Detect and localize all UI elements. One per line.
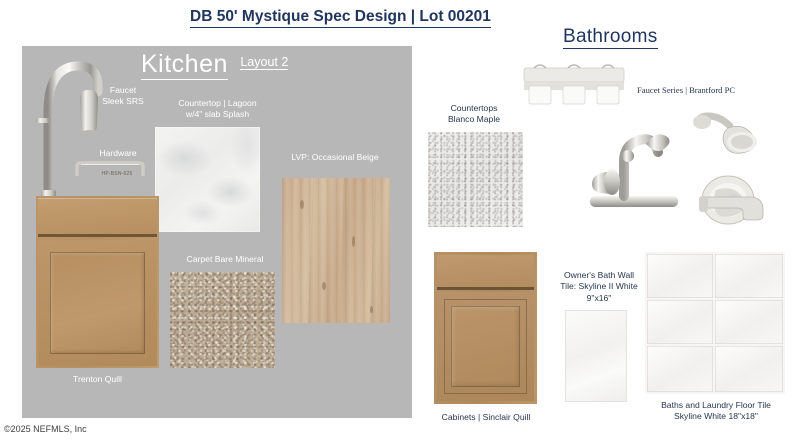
floor-tile-swatch-grid [645, 252, 785, 394]
main-title-text: DB 50' Mystique Spec Design | Lot 00201 [190, 8, 491, 28]
design-spec-board: DB 50' Mystique Spec Design | Lot 00201 … [0, 0, 800, 447]
bathrooms-title-text: Bathrooms [563, 26, 658, 49]
hardware-sku-code: HP-BSN-625 [88, 171, 146, 177]
kitchen-countertop-label-line2: w/4" slab Splash [155, 109, 280, 120]
wood-knot [322, 282, 326, 290]
kitchen-faucet-label-line2: Sleek SRS [92, 96, 154, 107]
kitchen-faucet-icon [26, 52, 106, 202]
bath-faucet-series-label: Faucet Series | Brantford PC [637, 85, 735, 95]
bath-countertops-label-line1: Countertops [428, 103, 520, 114]
floor-tile [715, 300, 783, 344]
bath-cabinet-door-image [434, 252, 537, 404]
lvp-flooring-swatch [282, 178, 390, 323]
floor-tile-line2: Skyline White 18"x18" [640, 411, 792, 422]
floor-tile [647, 346, 713, 392]
kitchen-layout-text: Layout 2 [240, 55, 288, 70]
shower-head-image [690, 108, 774, 170]
wood-knot [370, 306, 373, 313]
cabinet-door-front [38, 240, 157, 366]
bath-cabinet-drawer-front [437, 255, 534, 290]
wood-knot [300, 200, 304, 209]
kitchen-cabinet-door-image [36, 196, 159, 368]
lvp-flooring-label: LVP: Occasional Beige [276, 152, 394, 163]
owners-bath-tile-line2: Tile: Skyline II White [548, 281, 650, 292]
kitchen-faucet-label: Faucet Sleek SRS [92, 85, 154, 107]
bath-countertop-swatch [428, 132, 523, 227]
floor-tile [715, 346, 783, 392]
kitchen-countertop-label: Countertop | Lagoon w/4" slab Splash [155, 98, 280, 120]
bath-cabinet-door-front [437, 292, 534, 401]
cabinet-door-panel [50, 252, 145, 354]
copyright-notice: ©2025 NEFMLS, Inc [4, 424, 87, 434]
kitchen-faucet-label-line1: Faucet [92, 85, 154, 96]
wood-knot [352, 236, 355, 247]
kitchen-heading: Kitchen Layout 2 [141, 50, 288, 80]
vanity-light-icon [520, 60, 628, 110]
kitchen-faucet-image [26, 52, 106, 202]
kitchen-countertop-swatch [155, 127, 260, 232]
owners-bath-tile-swatch [565, 310, 627, 402]
tub-spout-icon [695, 192, 771, 232]
bath-lav-faucet-image [576, 110, 696, 220]
kitchen-cabinet-label: Trenton Quill [40, 374, 155, 385]
main-title: DB 50' Mystique Spec Design | Lot 00201 [190, 8, 491, 28]
bathrooms-section-title: Bathrooms [563, 26, 658, 49]
bath-countertops-label: Countertops Blanco Maple [428, 103, 520, 126]
carpet-label: Carpet Bare Mineral [165, 254, 285, 265]
bath-cabinets-label: Cabinets | Sinclair Quill [420, 412, 552, 422]
floor-tile [715, 254, 783, 298]
cabinet-drawer-front [38, 198, 157, 237]
floor-tile [647, 254, 713, 298]
floor-tile [647, 300, 713, 344]
lav-faucet-icon [576, 110, 696, 220]
floor-tile-label: Baths and Laundry Floor Tile Skyline Whi… [640, 400, 792, 423]
owners-bath-tile-line1: Owner's Bath Wall [548, 270, 650, 281]
bath-cabinet-raised-panel [451, 306, 520, 387]
owners-bath-tile-line3: 9"x16" [548, 293, 650, 304]
kitchen-hardware-label: Hardware [78, 148, 158, 159]
tub-spout-image [695, 192, 771, 232]
kitchen-heading-text: Kitchen [141, 50, 228, 80]
bath-countertops-label-line2: Blanco Maple [428, 114, 520, 125]
kitchen-countertop-label-line1: Countertop | Lagoon [155, 98, 280, 109]
shower-head-icon [690, 108, 774, 170]
owners-bath-tile-label: Owner's Bath Wall Tile: Skyline II White… [548, 270, 650, 304]
carpet-swatch [170, 272, 275, 368]
floor-tile-line1: Baths and Laundry Floor Tile [640, 400, 792, 411]
vanity-light-image [520, 60, 628, 110]
